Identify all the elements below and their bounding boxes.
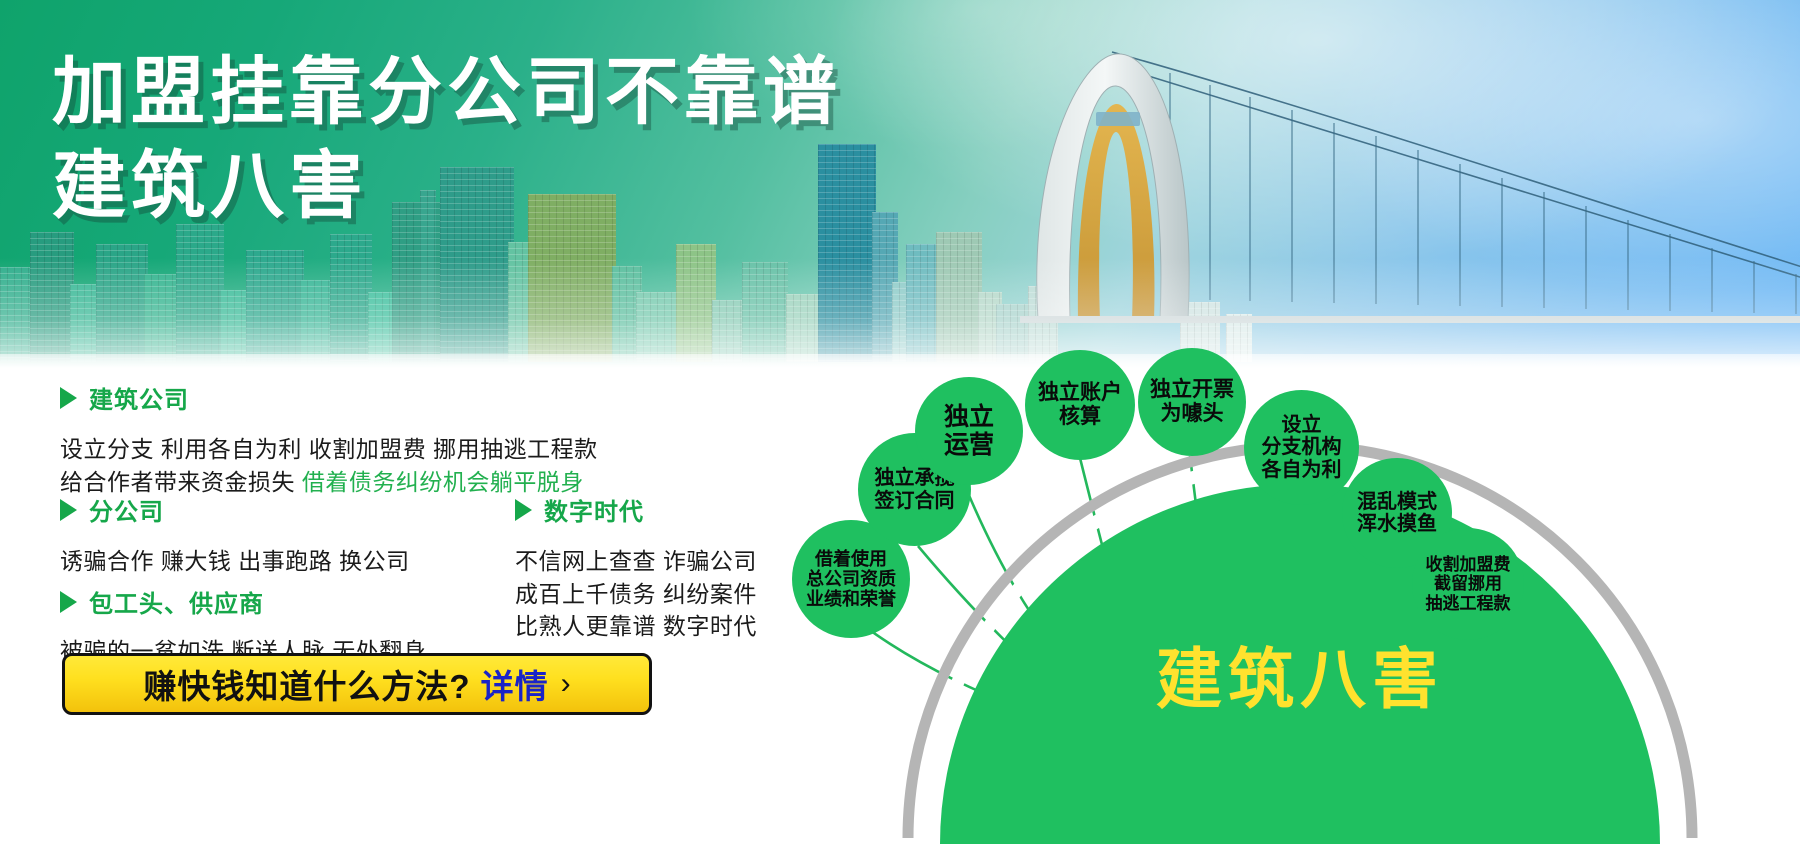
section-line: 成百上千债务 纠纷案件	[515, 578, 757, 611]
section-line-highlight: 借着债务纠纷机会躺平脱身	[302, 469, 584, 495]
section-heading-label: 包工头、供应商	[89, 584, 264, 619]
section-heading: 建筑公司	[60, 380, 598, 415]
cta-button[interactable]: 赚快钱知道什么方法? 详情 ›	[62, 653, 652, 715]
section-digital-era: 数字时代 不信网上查查 诈骗公司 成百上千债务 纠纷案件 比熟人更靠谱 数字时代	[515, 492, 757, 643]
hero-banner: 加盟挂靠分公司不靠谱 建筑八害	[0, 0, 1800, 368]
bubble-line: 业绩和荣誉	[806, 589, 896, 609]
triangle-bullet-icon	[515, 499, 532, 521]
section-heading: 分公司	[60, 492, 410, 527]
section-body: 设立分支 利用各自为利 收割加盟费 挪用抽逃工程款 给合作者带来资金损失 借着债…	[60, 433, 598, 498]
bubble-line: 签订合同	[875, 490, 955, 512]
bubble-line: 总公司资质	[806, 569, 896, 589]
cta-label: 赚快钱知道什么方法?	[143, 660, 470, 708]
bubble-line: 各自为利	[1262, 459, 1342, 481]
bubble-set-up-branches[interactable]: 设立 分支机构 各自为利	[1244, 390, 1359, 505]
page-subtitle: 建筑八害	[52, 146, 842, 226]
bubble-line: 收割加盟费	[1426, 555, 1511, 574]
section-heading-label: 分公司	[89, 492, 164, 527]
page-title: 加盟挂靠分公司不靠谱	[52, 52, 842, 132]
section-body: 不信网上查查 诈骗公司 成百上千债务 纠纷案件 比熟人更靠谱 数字时代	[515, 545, 757, 643]
hero-fade	[0, 258, 1800, 368]
poster-canvas: 加盟挂靠分公司不靠谱 建筑八害 建筑公司 设立分支 利用各自为利 收割加盟费 挪…	[0, 0, 1800, 844]
section-line-plain: 设立分支 利用各自为利 收割加盟费 挪用抽逃工程款	[60, 436, 598, 462]
bubble-line: 浑水摸鱼	[1357, 513, 1437, 535]
bubble-line: 核算	[1059, 405, 1101, 429]
section-line-plain: 给合作者带来资金损失	[60, 469, 302, 495]
bubble-line: 借着使用	[815, 549, 887, 569]
triangle-bullet-icon	[60, 591, 77, 613]
chevron-right-icon: ›	[561, 669, 571, 699]
bubble-line: 独立开票	[1150, 378, 1234, 402]
bubble-harvest-franchise-fee[interactable]: 收割加盟费 截留挪用 抽逃工程款	[1412, 528, 1524, 640]
dome-label: 建筑八害	[980, 626, 1620, 722]
bubble-line: 运营	[944, 431, 994, 459]
triangle-bullet-icon	[60, 499, 77, 521]
bubble-line: 抽逃工程款	[1426, 594, 1511, 613]
left-content-column: 建筑公司 设立分支 利用各自为利 收割加盟费 挪用抽逃工程款 给合作者带来资金损…	[0, 368, 800, 844]
bubble-line: 独立账户	[1038, 381, 1122, 405]
section-line: 设立分支 利用各自为利 收割加盟费 挪用抽逃工程款	[60, 433, 598, 466]
section-line-plain: 不信网上查查 诈骗公司	[515, 548, 757, 574]
bubble-line: 设立	[1282, 414, 1322, 436]
cta-detail-link[interactable]: 详情	[481, 660, 549, 708]
hero-ground	[0, 354, 1800, 368]
bubble-line: 截留挪用	[1434, 574, 1502, 593]
section-line: 不信网上查查 诈骗公司	[515, 545, 757, 578]
section-line: 诱骗合作 赚大钱 出事跑路 换公司	[60, 545, 410, 578]
section-line-plain: 成百上千债务 纠纷案件	[515, 581, 757, 607]
section-heading-label: 数字时代	[544, 492, 644, 527]
section-line-plain: 比熟人更靠谱 数字时代	[515, 613, 757, 639]
bubble-line: 为噱头	[1161, 402, 1224, 426]
eight-harms-diagram: 借着使用 总公司资质 业绩和荣誉 独立承揽 签订合同 独立 运营 独立账户 核算…	[800, 368, 1800, 844]
bubble-line: 混乱模式	[1357, 491, 1437, 513]
hero-text: 加盟挂靠分公司不靠谱 建筑八害	[52, 52, 842, 226]
section-construction-company: 建筑公司 设立分支 利用各自为利 收割加盟费 挪用抽逃工程款 给合作者带来资金损…	[60, 380, 598, 498]
section-line-plain: 诱骗合作 赚大钱 出事跑路 换公司	[60, 548, 410, 574]
bubble-independent-operation[interactable]: 独立 运营	[915, 377, 1023, 485]
section-heading: 包工头、供应商	[60, 584, 426, 619]
bubble-line: 独立	[944, 403, 994, 431]
section-line: 比熟人更靠谱 数字时代	[515, 610, 757, 643]
bubble-independent-account[interactable]: 独立账户 核算	[1025, 350, 1135, 460]
bubble-line: 分支机构	[1262, 436, 1342, 458]
section-heading: 数字时代	[515, 492, 757, 527]
section-branch-company: 分公司 诱骗合作 赚大钱 出事跑路 换公司	[60, 492, 410, 578]
triangle-bullet-icon	[60, 387, 77, 409]
section-body: 诱骗合作 赚大钱 出事跑路 换公司	[60, 545, 410, 578]
bubble-independent-invoicing[interactable]: 独立开票 为噱头	[1138, 348, 1246, 456]
section-heading-label: 建筑公司	[89, 380, 189, 415]
